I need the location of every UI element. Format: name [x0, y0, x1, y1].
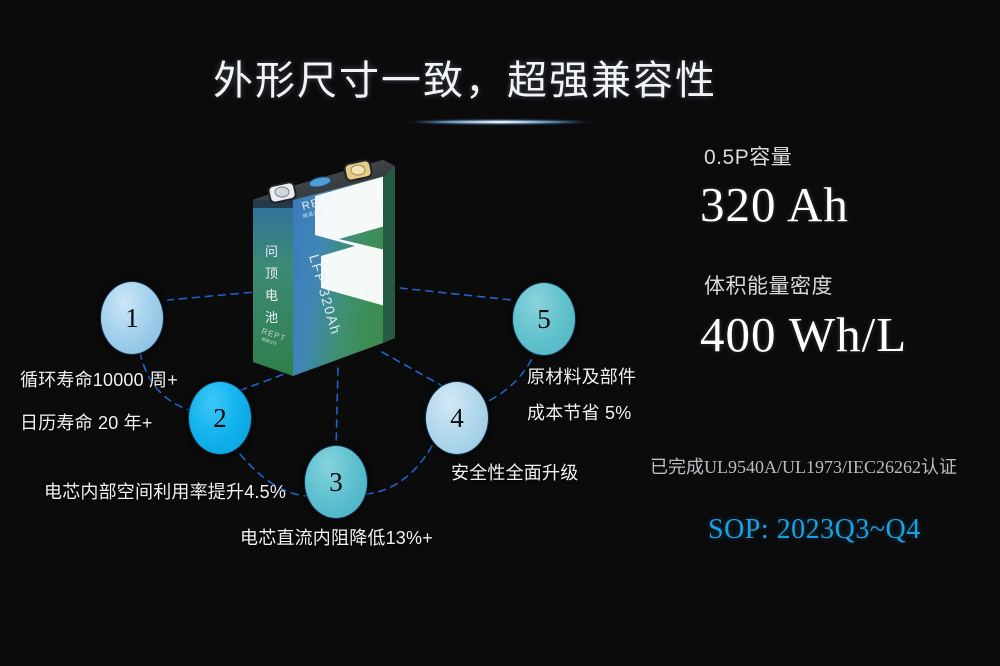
node-4-caption: 安全性全面升级: [451, 459, 578, 485]
slide-canvas: 外形尺寸一致，超强兼容性: [0, 0, 1000, 666]
battery-cell-image: REPT 瑞浦兰钧 LFP 320Ah REPT 瑞浦兰钧 问 顶 电 池: [235, 138, 435, 388]
diagram-node-2[interactable]: 2: [188, 381, 252, 455]
energy-density-metric-value: 400 Wh/L: [700, 306, 907, 363]
svg-text:电: 电: [265, 289, 278, 304]
node-5-caption-line-1: 原材料及部件: [527, 363, 636, 389]
capacity-metric-value: 320 Ah: [700, 176, 849, 233]
diagram-node-1[interactable]: 1: [100, 281, 164, 355]
link-node3-node4: [366, 446, 432, 494]
node-number: 5: [537, 306, 551, 333]
node-2-caption: 电芯内部空间利用率提升4.5%: [44, 478, 286, 504]
node-number: 1: [125, 305, 139, 332]
svg-text:问: 问: [265, 245, 278, 260]
node-3-caption: 电芯直流内阻降低13%+: [240, 524, 433, 550]
node-number: 2: [213, 405, 227, 432]
certification-text: 已完成UL9540A/UL1973/IEC26262认证: [650, 453, 957, 479]
diagram-node-3[interactable]: 3: [304, 445, 368, 519]
title-divider-glow: [400, 118, 598, 126]
node-1-caption-line-1: 循环寿命10000 周+: [20, 366, 178, 392]
svg-text:顶: 顶: [265, 267, 278, 282]
node-1-caption-line-2: 日历寿命 20 年+: [20, 409, 153, 435]
svg-text:池: 池: [265, 311, 278, 326]
diagram-node-4[interactable]: 4: [425, 381, 489, 455]
node-number: 4: [450, 405, 464, 432]
page-title: 外形尺寸一致，超强兼容性: [0, 48, 930, 106]
node-number: 3: [329, 469, 343, 496]
node-5-caption-line-2: 成本节省 5%: [527, 399, 631, 425]
sop-text: SOP: 2023Q3~Q4: [708, 514, 921, 546]
energy-density-metric-label: 体积能量密度: [704, 270, 833, 300]
capacity-metric-label: 0.5P容量: [704, 141, 792, 171]
battery-right-edge: [383, 160, 395, 343]
diagram-node-5[interactable]: 5: [512, 282, 576, 356]
